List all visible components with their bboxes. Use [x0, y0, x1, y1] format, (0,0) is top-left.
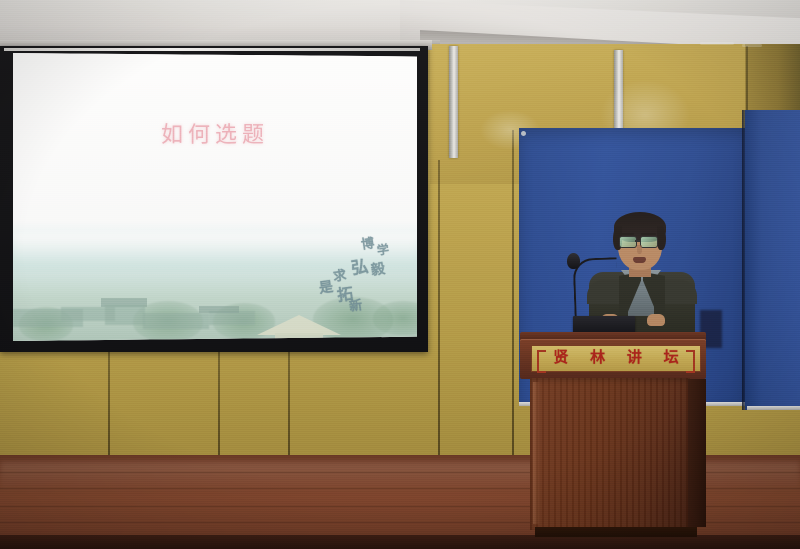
wall-seam: [288, 352, 290, 456]
speaker-shoulder-right: [663, 280, 697, 304]
plaque-bracket-left: [537, 350, 546, 373]
speaker-eyebrow-left: [619, 233, 634, 235]
wall-seam: [108, 350, 110, 458]
speaker-nose: [637, 245, 642, 254]
eyeglasses-bridge: [635, 240, 640, 242]
lecture-podium: 贤 林 讲 坛: [517, 332, 709, 537]
wall-vent: [742, 44, 762, 47]
calligraphy-char: 学: [376, 240, 390, 259]
speaker-shoulder-left: [587, 280, 621, 304]
slide-title: 如何选题: [13, 117, 417, 149]
calligraphy-char: 博: [360, 232, 376, 253]
eyeglasses-right-lens: [640, 236, 658, 248]
calligraphy-char: 毅: [370, 258, 387, 280]
wall-seam: [512, 130, 514, 456]
panorama-pavilion-body: [275, 333, 323, 341]
calligraphy-char: 是: [318, 276, 335, 298]
projection-screen-surface: 如何选题 博 学 弘: [13, 53, 417, 341]
podium-header: 贤 林 讲 坛: [520, 339, 706, 379]
backdrop-bottom-rail: [747, 406, 800, 410]
panorama-roof: [199, 306, 239, 313]
podium-plaque: 贤 林 讲 坛: [531, 345, 701, 372]
panorama-building: [105, 305, 145, 325]
panorama-building: [209, 311, 255, 325]
projection-screen-frame: 如何选题 博 学 弘: [0, 46, 428, 352]
blue-backdrop-right: [745, 110, 800, 410]
backdrop-pin: [521, 131, 526, 136]
podium-body: [530, 378, 690, 530]
calligraphy-char: 弘: [349, 252, 369, 279]
wall-vent: [700, 42, 734, 45]
slide-panorama: 博 学 弘 毅 求 是 拓 新: [13, 221, 417, 341]
calligraphy-char: 新: [348, 294, 364, 315]
slide-calligraphy: 博 学 弘 毅 求 是 拓 新: [323, 237, 401, 315]
podium-highlight: [533, 382, 540, 524]
wall-seam: [218, 350, 220, 456]
plaque-bracket-right: [686, 350, 695, 373]
microphone-head: [567, 253, 580, 269]
panorama-building: [143, 313, 209, 329]
podium-plaque-text: 贤 林 讲 坛: [544, 351, 687, 366]
speaker-eyebrow-right: [641, 233, 656, 235]
podium-side-panel: [688, 379, 706, 527]
lecture-hall-photo: 如何选题 博 学 弘: [0, 0, 800, 549]
podium-base: [535, 527, 697, 537]
eyeglasses-left-lens: [619, 236, 637, 248]
speaker-mouth: [633, 257, 646, 263]
speaker-hair-right: [657, 226, 666, 250]
speaker-hand-right: [647, 314, 665, 326]
stage-edge: [0, 535, 800, 549]
panorama-pavilion-roof: [257, 315, 341, 335]
wall-metal-strip: [614, 50, 623, 138]
wall-seam: [438, 160, 440, 456]
wall-metal-strip: [449, 46, 458, 158]
